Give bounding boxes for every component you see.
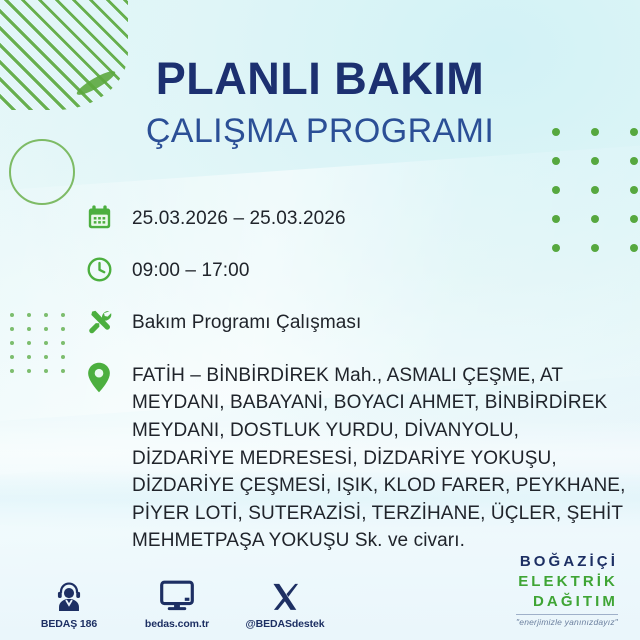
contact-website[interactable]: bedas.com.tr [134,578,220,630]
info-row-time: 09:00 – 17:00 [86,255,626,285]
poster-heading-group: PLANLI BAKIM ÇALIŞMA PROGRAMI [0,56,640,148]
dot [591,157,599,165]
time-range-text: 09:00 – 17:00 [132,255,250,285]
dot-grid-left-decoration [10,313,65,373]
bedas-logo: BOĞAZİÇİ ELEKTRİK DAĞITIM "enerjimizle y… [516,554,618,627]
contact-phone[interactable]: BEDAŞ 186 [26,578,112,630]
date-range-text: 25.03.2026 – 25.03.2026 [132,203,346,233]
dot [630,215,638,223]
dot [44,327,48,331]
dot [10,327,14,331]
affected-area-text: FATİH – BİNBİRDİREK Mah., ASMALI ÇEŞME, … [132,359,626,555]
dot [44,355,48,359]
dot [630,186,638,194]
dot [630,244,638,252]
call-center-agent-icon [26,578,112,612]
monitor-icon [134,578,220,612]
work-type-text: Bakım Programı Çalışması [132,307,361,337]
calendar-icon [86,203,132,231]
dot [44,369,48,373]
dot [10,313,14,317]
location-pin-icon [86,359,132,393]
info-list: 25.03.2026 – 25.03.2026 09:00 – 17:00 [86,203,626,555]
info-row-date: 25.03.2026 – 25.03.2026 [86,203,626,233]
dot [27,355,31,359]
page-subtitle: ÇALIŞMA PROGRAMI [0,114,640,148]
circle-outline-decoration [9,139,75,205]
dot [61,327,65,331]
dot [27,313,31,317]
dot [61,355,65,359]
dot [61,313,65,317]
contact-phone-label: BEDAŞ 186 [26,618,112,630]
footer: BEDAŞ 186 bedas.com.tr [0,552,640,640]
dot [44,341,48,345]
dot [630,157,638,165]
maintenance-announcement-poster: PLANLI BAKIM ÇALIŞMA PROGRAMI 25 [0,0,640,640]
dot [27,369,31,373]
dot [10,341,14,345]
dot [27,341,31,345]
info-row-location: FATİH – BİNBİRDİREK Mah., ASMALI ÇEŞME, … [86,359,626,555]
dot [44,313,48,317]
dot [552,186,560,194]
logo-tagline: "enerjimizle yanınızdayız" [516,618,618,627]
dot [61,341,65,345]
contact-channels: BEDAŞ 186 bedas.com.tr [26,578,328,630]
logo-line-bogazici: BOĞAZİÇİ [516,554,618,569]
contact-x-label: @BEDASdestek [242,618,328,630]
logo-divider [516,614,618,615]
dot [27,327,31,331]
dot [10,355,14,359]
logo-line-dagitim: DAĞITIM [516,594,618,609]
tools-icon [86,307,132,335]
dot [10,369,14,373]
clock-icon [86,255,132,283]
dot [552,157,560,165]
dot [61,369,65,373]
contact-website-label: bedas.com.tr [134,618,220,630]
x-twitter-icon [242,578,328,612]
page-title: PLANLI BAKIM [0,56,640,101]
dot [591,186,599,194]
contact-x-account[interactable]: @BEDASdestek [242,578,328,630]
logo-line-elektrik: ELEKTRİK [516,574,618,589]
info-row-worktype: Bakım Programı Çalışması [86,307,626,337]
